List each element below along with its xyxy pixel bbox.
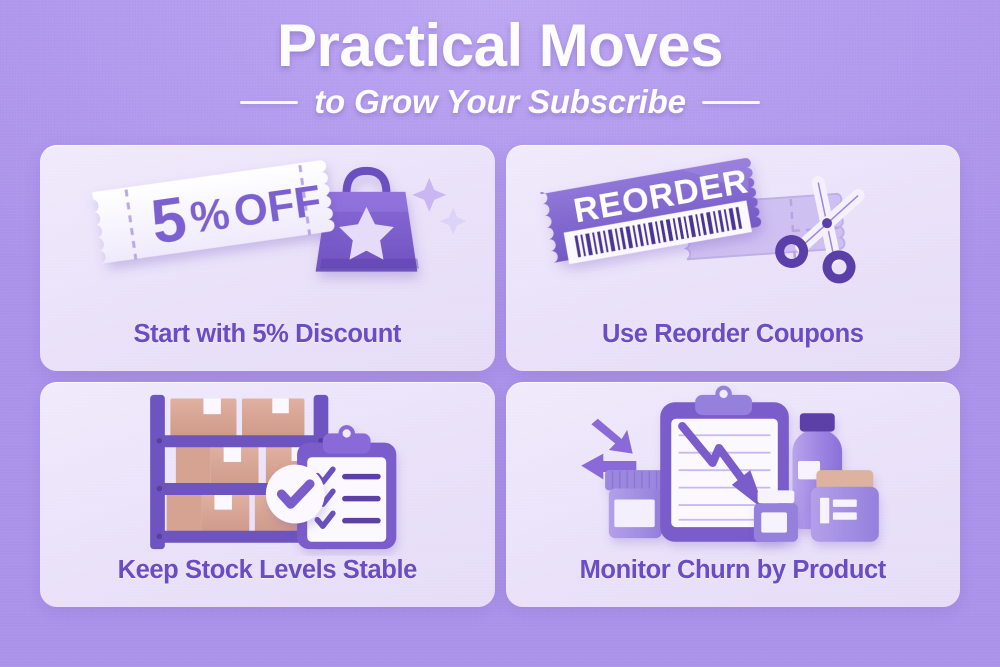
box-icon bbox=[170, 398, 304, 437]
box-icon bbox=[753, 490, 797, 541]
reorder-coupon-scissors-art: REORDER bbox=[506, 145, 961, 320]
churn-clipboard-products-art bbox=[506, 382, 961, 557]
warehouse-shelf-clipboard-art bbox=[40, 382, 495, 557]
card-reorder[interactable]: REORDER bbox=[506, 145, 961, 371]
jar-icon bbox=[810, 470, 878, 542]
card-stock[interactable]: Keep Stock Levels Stable bbox=[40, 382, 495, 608]
left-rule-decoration bbox=[240, 101, 298, 104]
right-rule-decoration bbox=[702, 101, 760, 104]
coupon-ticket-icon: 5 % OFF bbox=[92, 160, 335, 266]
card-churn[interactable]: Monitor Churn by Product bbox=[506, 382, 961, 608]
poster-canvas: Practical Moves to Grow Your Subscribe bbox=[0, 0, 1000, 667]
page-title: Practical Moves bbox=[0, 14, 1000, 77]
subtitle-row: to Grow Your Subscribe bbox=[0, 83, 1000, 121]
card-label-churn: Monitor Churn by Product bbox=[580, 556, 886, 607]
card-label-stock: Keep Stock Levels Stable bbox=[118, 556, 417, 607]
jar-icon bbox=[605, 470, 664, 538]
poster-header: Practical Moves to Grow Your Subscribe bbox=[0, 14, 1000, 121]
check-circle-icon bbox=[266, 464, 325, 523]
card-label-reorder: Use Reorder Coupons bbox=[602, 320, 864, 371]
svg-text:%: % bbox=[187, 189, 232, 243]
page-subtitle: to Grow Your Subscribe bbox=[314, 83, 686, 121]
card-discount[interactable]: 5 % OFF Start with 5% Discount bbox=[40, 145, 495, 371]
sparkle-icon bbox=[412, 178, 466, 235]
cards-grid: 5 % OFF Start with 5% Discount bbox=[40, 145, 960, 607]
coupon-ticket-shopping-bag-art: 5 % OFF bbox=[40, 145, 495, 320]
card-label-discount: Start with 5% Discount bbox=[134, 320, 401, 371]
arrow-down-right-icon bbox=[591, 418, 632, 453]
